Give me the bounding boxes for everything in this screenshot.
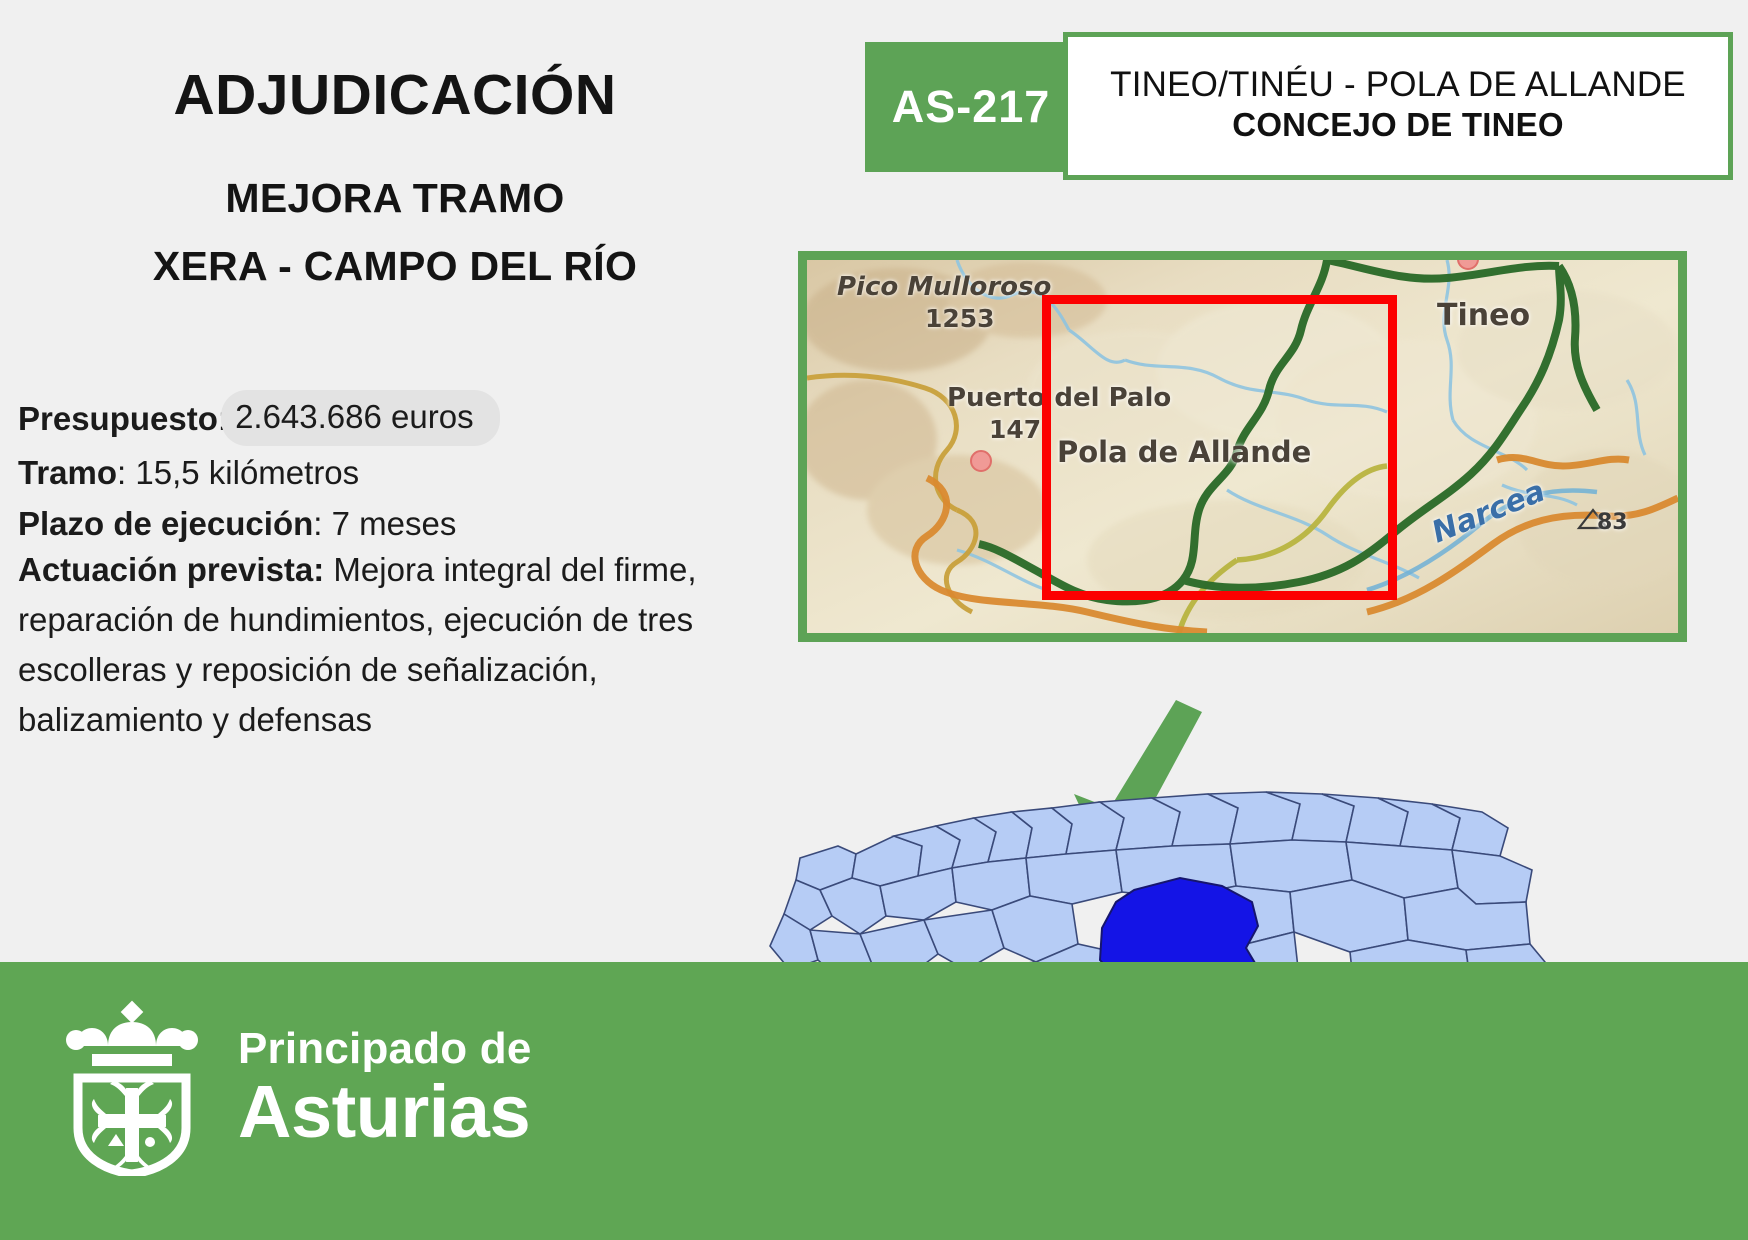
fact-label-tramo: Tramo	[18, 454, 117, 491]
fact-presupuesto: Presupuesto:2.643.686 euros	[18, 392, 790, 448]
map-label-altitude: 83	[1597, 510, 1628, 535]
detail-map[interactable]: Pico Mulloroso 1253 Puerto del Palo 147 …	[798, 251, 1687, 642]
map-label-pico-height: 1253	[925, 304, 995, 333]
map-highlight-rectangle	[1042, 295, 1397, 600]
fact-value-plazo: 7 meses	[332, 505, 457, 542]
subtitle-line-1: MEJORA TRAMO	[0, 165, 790, 233]
fact-plazo: Plazo de ejecución: 7 meses	[18, 499, 790, 549]
brand-line-2: Asturias	[238, 1075, 532, 1149]
facts-list: Presupuesto:2.643.686 euros Tramo: 15,5 …	[18, 392, 790, 549]
asturias-shield-cross-icon	[52, 1000, 212, 1176]
actuacion-paragraph: Actuación prevista: Mejora integral del …	[18, 545, 778, 746]
brand-text: Principado de Asturias	[238, 1027, 532, 1149]
route-code-label: AS-217	[884, 81, 1051, 133]
map-label-tineo: Tineo	[1437, 298, 1530, 333]
route-concejo-label: CONCEJO DE TINEO	[1232, 104, 1563, 147]
subtitle-line-2: XERA - CAMPO DEL RÍO	[0, 233, 790, 301]
fact-sep-plazo: :	[313, 505, 322, 542]
route-code-badge: AS-217	[865, 42, 1069, 172]
map-label-puerto-height: 147	[989, 415, 1041, 444]
fact-label-plazo: Plazo de ejecución	[18, 505, 313, 542]
route-endpoints-label: TINEO/TINÉU - POLA DE ALLANDE	[1110, 65, 1686, 104]
fact-label-presupuesto: Presupuesto	[18, 400, 218, 437]
brand-lockup: Principado de Asturias	[52, 1000, 532, 1176]
map-label-pico: Pico Mulloroso	[837, 272, 1051, 302]
actuacion-label: Actuación prevista:	[18, 551, 324, 588]
fact-tramo: Tramo: 15,5 kilómetros	[18, 448, 790, 498]
poster-root: ADJUDICACIÓN MEJORA TRAMO XERA - CAMPO D…	[0, 0, 1748, 1240]
map-marker-pola-de-allande-icon	[970, 450, 992, 472]
page-subtitle: MEJORA TRAMO XERA - CAMPO DEL RÍO	[0, 165, 790, 300]
fact-value-tramo: 15,5 kilómetros	[135, 454, 359, 491]
fact-value-presupuesto: 2.643.686 euros	[221, 390, 500, 446]
page-title: ADJUDICACIÓN	[0, 66, 790, 126]
brand-line-1: Principado de	[238, 1027, 532, 1071]
info-column: ADJUDICACIÓN MEJORA TRAMO XERA - CAMPO D…	[0, 0, 790, 962]
fact-sep-tramo: :	[117, 454, 126, 491]
route-name-box: TINEO/TINÉU - POLA DE ALLANDE CONCEJO DE…	[1063, 32, 1733, 180]
